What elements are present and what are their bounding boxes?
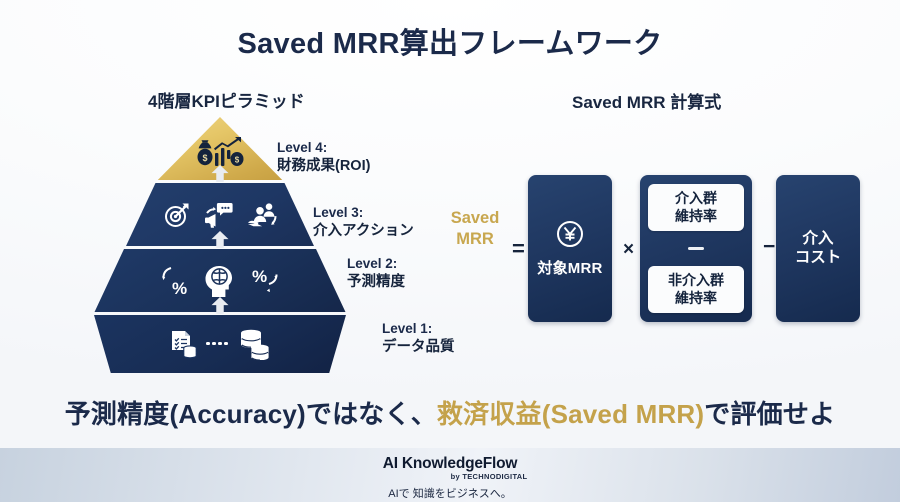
- operator-minus: −: [763, 236, 775, 257]
- intervention-cost-line1: 介入: [795, 230, 842, 249]
- pyramid-section-heading: 4階層KPIピラミッド: [148, 87, 305, 112]
- tier1-shape: [93, 315, 347, 373]
- retention-control-line2: 維持率: [650, 290, 742, 308]
- retention-card-treated: 介入群 維持率: [648, 184, 744, 231]
- footer-bar: AI KnowledgeFlow by TECHNODIGITAL AIで 知識…: [0, 448, 900, 502]
- message-highlight: 救済収益(Saved MRR): [437, 399, 704, 429]
- retention-treated-line2: 維持率: [650, 208, 742, 226]
- level-1-name: データ品質: [382, 338, 455, 357]
- operator-multiply: ×: [623, 240, 634, 259]
- operator-equals: =: [512, 238, 525, 260]
- formula-result-line1: Saved: [444, 208, 506, 229]
- retention-treated-line1: 介入群: [650, 190, 742, 208]
- key-message: 予測精度(Accuracy)ではなく、救済収益(Saved MRR)で評価せよ: [0, 394, 900, 431]
- level-3-label: Level 3: 介入アクション: [313, 204, 414, 241]
- level-3-number: Level 3:: [313, 204, 414, 222]
- formula-box-retention-diff[interactable]: 介入群 維持率 非介入群 維持率: [640, 175, 752, 322]
- level-4-name: 財務成果(ROI): [277, 157, 370, 176]
- level-3-name: 介入アクション: [313, 222, 414, 241]
- target-mrr-label: 対象MRR: [537, 257, 602, 278]
- level-4-label: Level 4: 財務成果(ROI): [277, 139, 370, 176]
- brand-byline: by TECHNODIGITAL: [0, 472, 900, 481]
- intervention-cost-line2: コスト: [795, 249, 842, 268]
- message-suffix: で評価せよ: [704, 399, 835, 429]
- level-2-number: Level 2:: [347, 255, 405, 273]
- yen-circle-icon: [556, 220, 584, 248]
- pyramid-tier-level1[interactable]: [93, 315, 347, 373]
- retention-card-control: 非介入群 維持率: [648, 266, 744, 313]
- formula-result-label: Saved MRR: [444, 208, 506, 249]
- inner-minus-icon: [688, 247, 704, 250]
- saved-mrr-formula: Saved MRR = × − 対象MRR 介入群 維持率 非介入群 維持率: [440, 160, 880, 330]
- formula-section-heading: Saved MRR 計算式: [572, 88, 721, 113]
- formula-box-intervention-cost[interactable]: 介入 コスト: [776, 175, 860, 322]
- brand-name: AI KnowledgeFlow: [0, 455, 900, 473]
- retention-control-line1: 非介入群: [650, 272, 742, 290]
- brand-tagline: AIで 知識をビジネスへ。: [0, 485, 900, 501]
- formula-result-line2: MRR: [444, 229, 506, 250]
- level-2-name: 予測精度: [347, 273, 405, 292]
- level-2-label: Level 2: 予測精度: [347, 255, 405, 292]
- page-title: Saved MRR算出フレームワーク: [0, 20, 900, 62]
- intervention-cost-label: 介入 コスト: [795, 230, 842, 268]
- message-prefix: 予測精度(Accuracy)ではなく、: [65, 399, 437, 429]
- slide-canvas: Saved MRR算出フレームワーク 4階層KPIピラミッド Saved MRR…: [0, 0, 900, 502]
- level-4-number: Level 4:: [277, 139, 370, 157]
- formula-box-target-mrr[interactable]: 対象MRR: [528, 175, 612, 322]
